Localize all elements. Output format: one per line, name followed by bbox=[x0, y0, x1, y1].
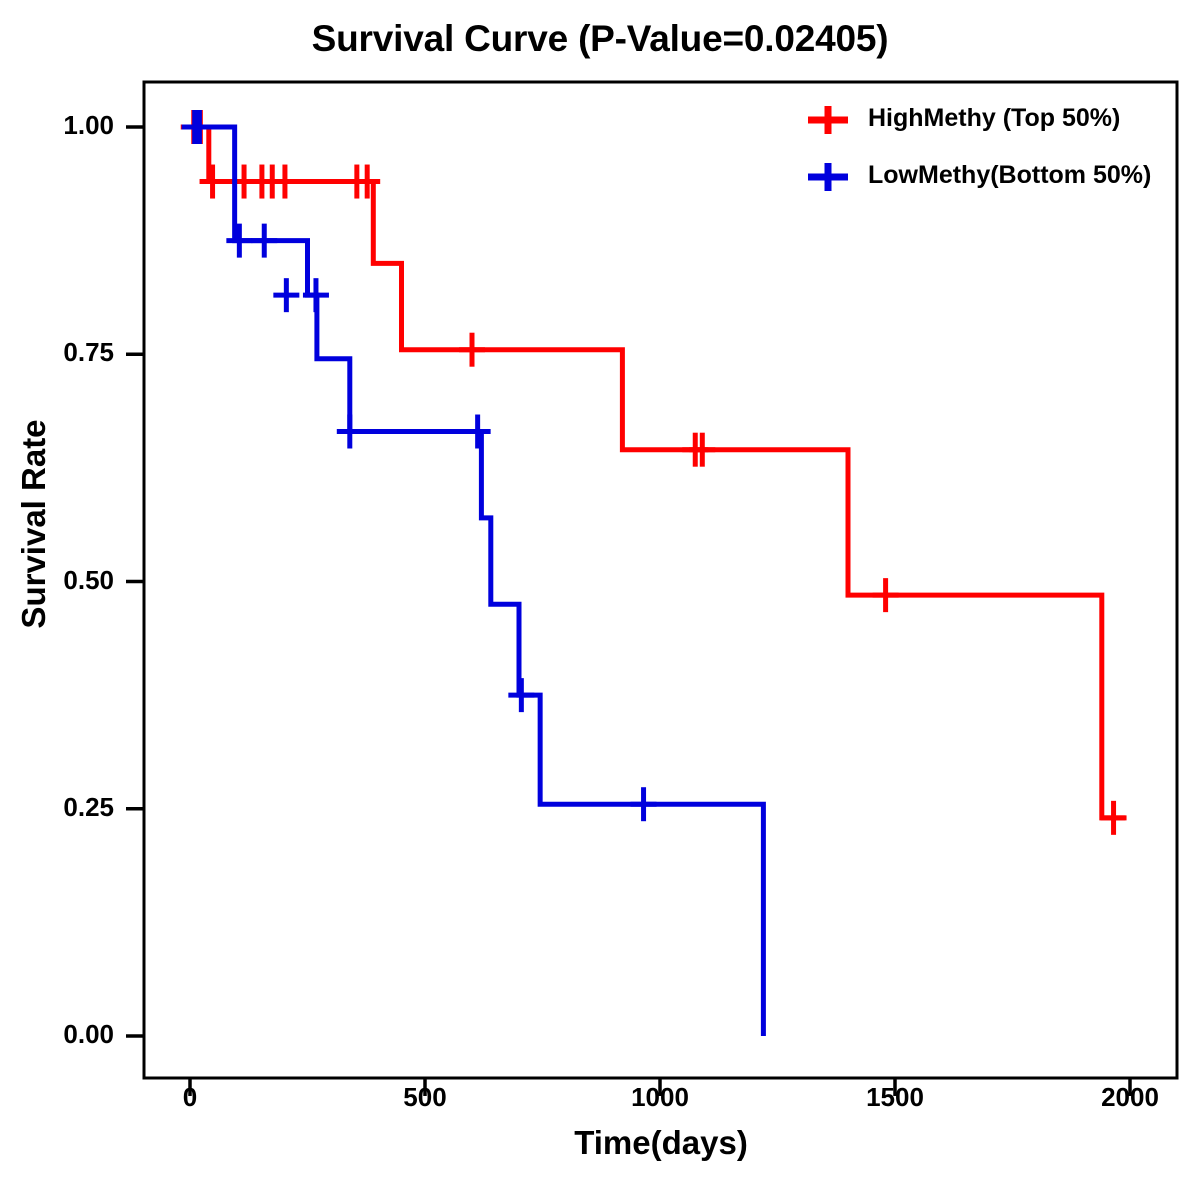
legend-entry-label: LowMethy(Bottom 50%) bbox=[868, 161, 1151, 190]
legend-marker-plus-icon bbox=[800, 100, 856, 140]
x-tick-label: 2000 bbox=[1070, 1082, 1190, 1113]
y-tick-label: 1.00 bbox=[28, 110, 114, 141]
series-layer bbox=[181, 110, 1127, 1036]
y-tick-label: 0.25 bbox=[28, 792, 114, 823]
x-tick-label: 1000 bbox=[600, 1082, 720, 1113]
legend-entry-label: HighMethy (Top 50%) bbox=[868, 104, 1120, 133]
step-line bbox=[190, 127, 763, 1036]
y-tick-label: 0.50 bbox=[28, 565, 114, 596]
x-tick-label: 1500 bbox=[835, 1082, 955, 1113]
axis-tick-marks bbox=[126, 127, 1130, 1096]
y-tick-label: 0.00 bbox=[28, 1019, 114, 1050]
x-axis-title: Time(days) bbox=[144, 1124, 1178, 1162]
y-tick-label: 0.75 bbox=[28, 337, 114, 368]
step-line bbox=[190, 127, 1125, 818]
y-axis-title: Survival Rate bbox=[15, 404, 53, 644]
x-tick-label: 500 bbox=[365, 1082, 485, 1113]
x-tick-label: 0 bbox=[130, 1082, 250, 1113]
survival-curve-figure: Survival Curve (P-Value=0.02405) Surviva… bbox=[0, 0, 1200, 1200]
plot-border bbox=[144, 82, 1177, 1078]
legend-marker-plus-icon bbox=[800, 157, 856, 197]
series-1 bbox=[182, 110, 764, 1036]
series-0 bbox=[181, 110, 1127, 835]
